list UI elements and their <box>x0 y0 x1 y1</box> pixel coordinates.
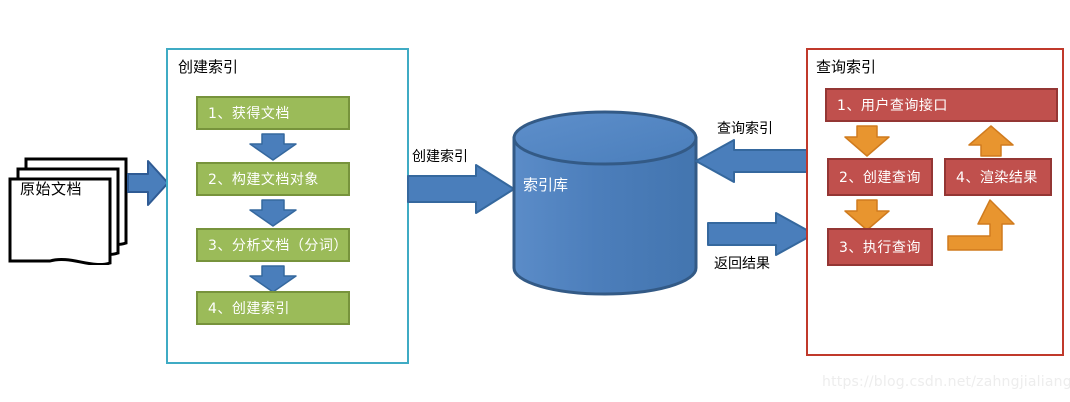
index-step-1[interactable]: 1、获得文档 <box>196 96 350 130</box>
arrow-search-step2-to-step3 <box>843 198 891 232</box>
arrow-index-to-store <box>406 163 516 215</box>
document-stack-icon <box>8 145 138 265</box>
arrow-index-step2-to-step3 <box>248 198 298 228</box>
watermark-text: https://blog.csdn.net/zahngjialiang <box>822 374 1070 390</box>
flow-label-return-result: 返回结果 <box>714 253 770 273</box>
cylinder-database-icon <box>510 110 700 296</box>
search-step-2[interactable]: 2、创建查询 <box>827 158 933 196</box>
arrow-store-to-search <box>706 211 816 257</box>
arrow-search-step3-to-step4 <box>946 196 1018 252</box>
index-step-2[interactable]: 2、构建文档对象 <box>196 162 350 196</box>
search-index-panel-title: 查询索引 <box>816 56 876 77</box>
arrow-search-step4-to-step1 <box>967 124 1015 158</box>
arrow-index-step1-to-step2 <box>248 132 298 162</box>
index-creation-panel-title: 创建索引 <box>178 56 238 77</box>
index-step-4[interactable]: 4、创建索引 <box>196 291 350 325</box>
diagram-canvas: 原始文档 创建索引 1、获得文档 2、构建文档对象 3、分析文档（分词） 4、创… <box>0 0 1070 402</box>
arrow-search-to-store <box>694 138 810 184</box>
search-step-3[interactable]: 3、执行查询 <box>827 228 933 266</box>
index-step-3[interactable]: 3、分析文档（分词） <box>196 228 350 262</box>
search-step-4[interactable]: 4、渲染结果 <box>944 158 1052 196</box>
source-document-label: 原始文档 <box>20 178 82 199</box>
arrow-search-step1-to-step2 <box>843 124 891 158</box>
store-label: 索引库 <box>523 174 568 195</box>
arrow-docs-to-index <box>126 157 170 209</box>
flow-label-query-index: 查询索引 <box>717 118 773 138</box>
arrow-index-step3-to-step4 <box>248 264 298 294</box>
search-step-1[interactable]: 1、用户查询接口 <box>825 88 1058 122</box>
